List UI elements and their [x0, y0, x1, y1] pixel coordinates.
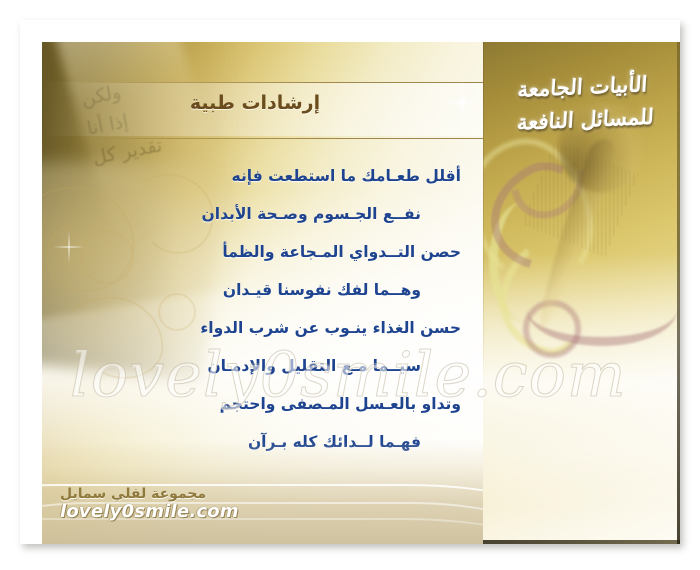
poem-verses: أقلل طعـامك ما استطعت فإنه نفــع الجـسوم… [42, 166, 483, 470]
footer-group-label: مجموعة لفلي سمايل [60, 486, 239, 502]
title-divider-top [66, 82, 483, 83]
footer-credit: مجموعة لفلي سمايل lovely0smile.com [60, 486, 239, 522]
verse-line: سيــما مـع التقليل والإدمـان [42, 356, 483, 376]
footer-site-url[interactable]: lovely0smile.com [60, 501, 239, 522]
poster-card-frame: ولكن إذا أنا تقدير كل إرشادات طبية [20, 20, 680, 544]
cover-bottom-edge [483, 540, 680, 544]
verse-line: وتداو بالعـسل المـصفى واحتجم [42, 394, 483, 414]
cover-title-line-1: الأبيات الجامعة [517, 71, 648, 102]
verse-line: وهــما لفك نفوسنا قيـدان [42, 280, 483, 300]
section-title: إرشادات طبية [45, 92, 465, 114]
cover-title: الأبيات الجامعة للمسائل النافعة [483, 66, 680, 141]
cover-title-line-2: للمسائل النافعة [483, 98, 680, 140]
verse-line: حصن التــدواي المـجاعة والظمأ [42, 242, 483, 262]
cover-right-edge [677, 42, 680, 544]
verse-line: حسن الغذاء ينـوب عن شرب الدواء [42, 318, 483, 338]
panel-separator [483, 42, 484, 544]
main-content-panel: ولكن إذا أنا تقدير كل إرشادات طبية [42, 42, 483, 544]
verse-line: أقلل طعـامك ما استطعت فإنه [42, 166, 483, 186]
poster-artwork: ولكن إذا أنا تقدير كل إرشادات طبية [42, 42, 680, 544]
title-divider-bottom [66, 138, 483, 139]
cover-panel: الأبيات الجامعة للمسائل النافعة [483, 42, 680, 544]
verse-line: نفــع الجـسوم وصـحة الأبدان [42, 204, 483, 224]
